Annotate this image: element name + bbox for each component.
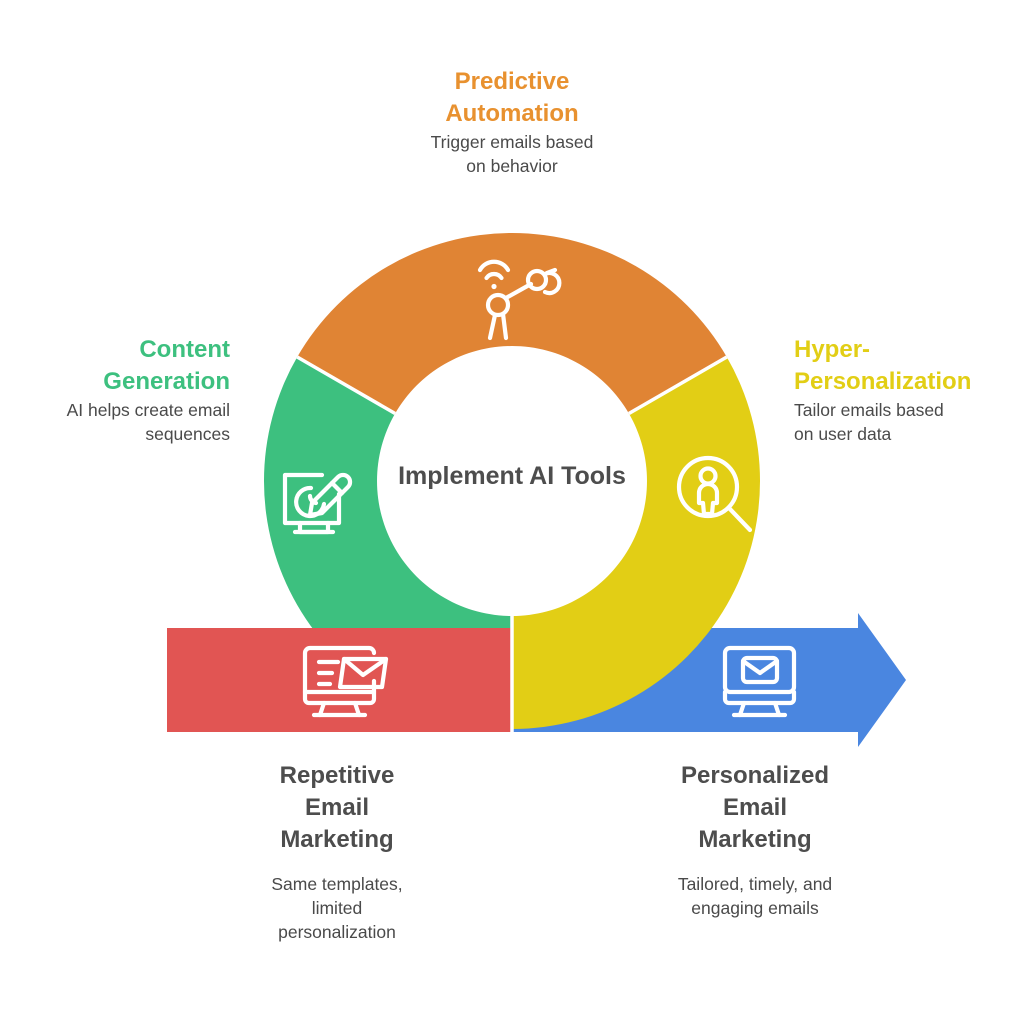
label-description: Trigger emails based on behavior <box>352 130 672 178</box>
label-description: Tailored, timely, and engaging emails <box>635 872 875 920</box>
label-description: AI helps create email sequences <box>10 398 230 446</box>
label-content-generation: Content Generation AI helps create email… <box>10 334 230 446</box>
label-title: Repetitive Email Marketing <box>217 760 457 856</box>
label-hyper-personalization: Hyper- Personalization Tailor emails bas… <box>794 334 1014 446</box>
label-description: Same templates, limited personalization <box>217 872 457 944</box>
label-repetitive-email-marketing: Repetitive Email Marketing Same template… <box>217 760 457 944</box>
label-title: Hyper- Personalization <box>794 334 1014 398</box>
diagram-canvas: Implement AI Tools Predictive Automation… <box>0 0 1024 1014</box>
label-personalized-email-marketing: Personalized Email Marketing Tailored, t… <box>635 760 875 920</box>
label-title: Content Generation <box>10 334 230 398</box>
label-title: Predictive Automation <box>352 66 672 130</box>
center-label: Implement AI Tools <box>362 462 662 491</box>
label-description: Tailor emails based on user data <box>794 398 1014 446</box>
label-predictive-automation: Predictive Automation Trigger emails bas… <box>352 66 672 178</box>
label-title: Personalized Email Marketing <box>635 760 875 856</box>
ring-segment-predictive-automation[interactable] <box>297 233 727 414</box>
